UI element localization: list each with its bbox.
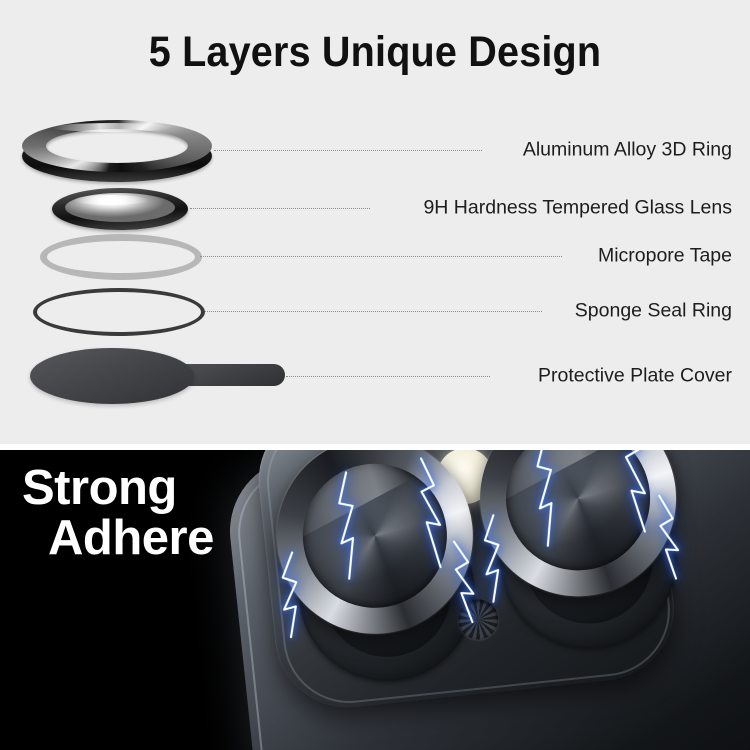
layer-label-sponge-seal-ring: Sponge Seal Ring	[232, 300, 732, 323]
page-title: 5 Layers Unique Design	[30, 28, 720, 77]
headline-line-1: Strong	[22, 461, 177, 515]
plate-disc	[30, 348, 194, 404]
tempered-glass-lens-graphic	[52, 188, 188, 230]
layer-label-micropore-tape: Micropore Tape	[232, 245, 732, 268]
adhesion-panel: Strong Adhere	[0, 450, 750, 750]
product-infographic: 5 Layers Unique Design Alu	[0, 0, 750, 750]
ring-aperture	[46, 129, 188, 163]
sponge-seal-ring-graphic	[33, 288, 205, 336]
layers-panel: 5 Layers Unique Design Alu	[0, 0, 750, 444]
ring-highlight	[52, 123, 172, 132]
layer-label-protective-plate-cover: Protective Plate Cover	[232, 365, 732, 388]
aluminum-3d-ring-graphic	[22, 120, 212, 182]
headline-line-2: Adhere	[48, 514, 322, 564]
lens-highlight	[74, 195, 148, 205]
layer-label-aluminum-alloy-3d-ring: Aluminum Alloy 3D Ring	[232, 139, 732, 162]
headline: Strong Adhere	[22, 464, 322, 564]
micropore-tape-graphic	[40, 234, 202, 280]
layer-label-tempered-glass-lens: 9H Hardness Tempered Glass Lens	[232, 197, 732, 220]
